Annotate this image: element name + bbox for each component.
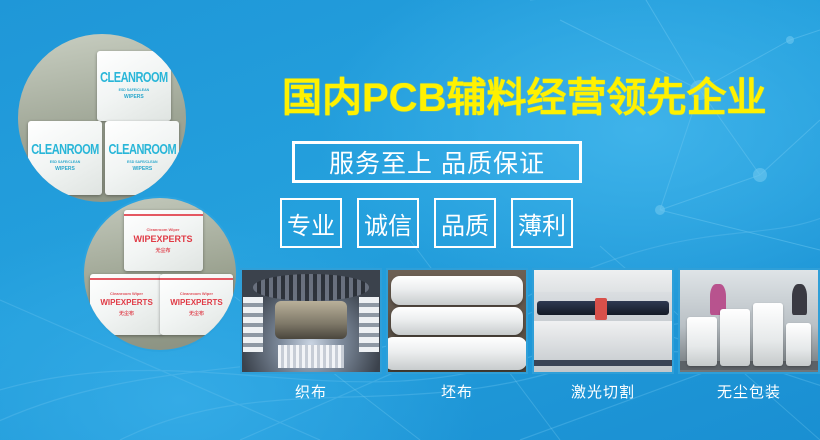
feature-tag-zhuanye: 专业 [280, 198, 342, 248]
feature-tag-baoli: 薄利 [511, 198, 573, 248]
process-thumbnail-caption: 无尘包装 [678, 381, 820, 402]
pack-brand-label: CLEANROOM [100, 70, 168, 86]
feature-tag-label: 品质 [441, 206, 489, 241]
pack-brand-label: WIPEXPERTS [134, 234, 193, 244]
pack-subline-1: ESD SAFE/CLEAN [50, 160, 81, 164]
banner-headline: 国内PCB辅料经营领先企业 [282, 76, 782, 120]
pack-subline-2: 无尘布 [189, 310, 204, 317]
pack-subline-1: ESD SAFE/CLEAN [119, 88, 150, 92]
wipexperts-pack: Cleanroom Wiper WIPEXPERTS 无尘布 [124, 210, 203, 271]
pack-subline-1: Cleanroom Wiper [146, 227, 179, 232]
process-thumbnail-laser: 激光切割 [532, 268, 674, 402]
promo-banner: CLEANROOM ESD SAFE/CLEAN WIPERS CLEANROO… [0, 0, 820, 440]
process-thumbnail-caption: 织布 [240, 381, 382, 402]
fabric-rolls-photo [386, 268, 528, 374]
feature-tag-label: 专业 [287, 206, 335, 241]
cleanroom-pack: CLEANROOM ESD SAFE/CLEAN WIPERS [97, 51, 171, 122]
pack-subline-1: Cleanroom Wiper [110, 291, 143, 296]
process-thumbnail-caption: 坯布 [386, 381, 528, 402]
feature-tag-pinzhi: 品质 [434, 198, 496, 248]
cleanroom-packing-photo [678, 268, 820, 374]
pack-brand-label: WIPEXPERTS [170, 298, 222, 307]
feature-tag-chengxin: 诚信 [357, 198, 419, 248]
process-thumbnail-greige: 坯布 [386, 268, 528, 402]
pack-subline-2: 无尘布 [156, 247, 171, 254]
banner-subtitle-text: 服务至上 品质保证 [329, 144, 545, 180]
feature-tag-list: 专业 诚信 品质 薄利 [280, 198, 573, 248]
product-photo-wipexperts: Cleanroom Wiper WIPEXPERTS 无尘布 Cleanroom… [82, 196, 238, 352]
banner-subtitle-box: 服务至上 品质保证 [292, 141, 582, 183]
pack-subline-2: WIPERS [55, 166, 75, 172]
pack-brand-label: WIPEXPERTS [100, 298, 152, 307]
product-photo-cleanroom: CLEANROOM ESD SAFE/CLEAN WIPERS CLEANROO… [18, 34, 186, 202]
pack-subline-2: WIPERS [132, 166, 152, 172]
laser-cutter-photo [532, 268, 674, 374]
pack-subline-2: 无尘布 [119, 310, 134, 317]
process-thumbnail-list: 织布 坯布 激光切割 [240, 268, 820, 402]
process-thumbnail-caption: 激光切割 [532, 381, 674, 402]
feature-tag-label: 诚信 [364, 206, 412, 241]
pack-brand-label: CLEANROOM [31, 142, 99, 158]
cleanroom-pack: CLEANROOM ESD SAFE/CLEAN WIPERS [28, 121, 102, 195]
knitting-machine-photo [240, 268, 382, 374]
feature-tag-label: 薄利 [518, 206, 566, 241]
cleanroom-pack: CLEANROOM ESD SAFE/CLEAN WIPERS [105, 121, 179, 195]
wipexperts-pack: Cleanroom Wiper WIPEXPERTS 无尘布 [160, 274, 233, 335]
pack-subline-1: ESD SAFE/CLEAN [127, 160, 158, 164]
pack-subline-2: WIPERS [124, 94, 144, 100]
process-thumbnail-packing: 无尘包装 [678, 268, 820, 402]
pack-brand-label: CLEANROOM [109, 142, 177, 158]
process-thumbnail-weaving: 织布 [240, 268, 382, 402]
wipexperts-pack: Cleanroom Wiper WIPEXPERTS 无尘布 [90, 274, 163, 335]
pack-subline-1: Cleanroom Wiper [180, 291, 213, 296]
